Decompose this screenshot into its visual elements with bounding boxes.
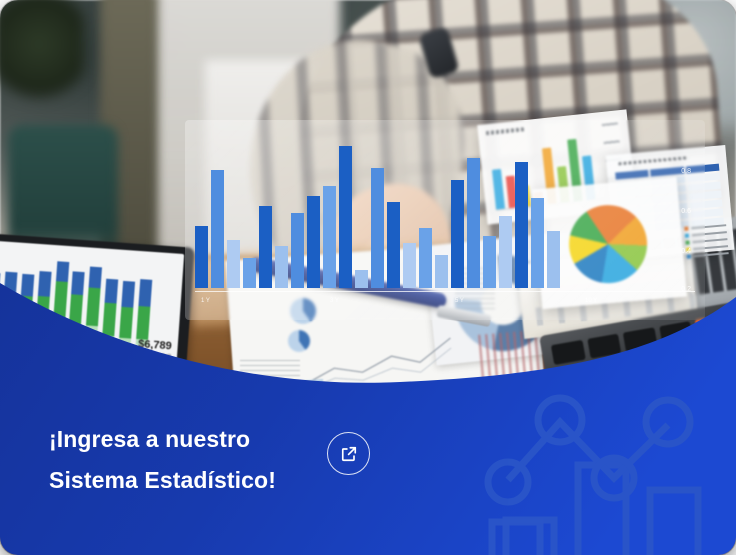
external-link-icon bbox=[339, 444, 359, 464]
cta-line-2: Sistema Estadístico! bbox=[49, 460, 339, 501]
statistics-banner-card: $6,789 Total Profit 13,678 Total Orders bbox=[0, 0, 736, 555]
external-link-button[interactable] bbox=[327, 432, 370, 475]
cta-heading: ¡Ingresa a nuestro Sistema Estadístico! bbox=[49, 419, 339, 501]
banner-content: ¡Ingresa a nuestro Sistema Estadístico! bbox=[0, 0, 736, 555]
cta-line-1: ¡Ingresa a nuestro bbox=[49, 419, 339, 460]
